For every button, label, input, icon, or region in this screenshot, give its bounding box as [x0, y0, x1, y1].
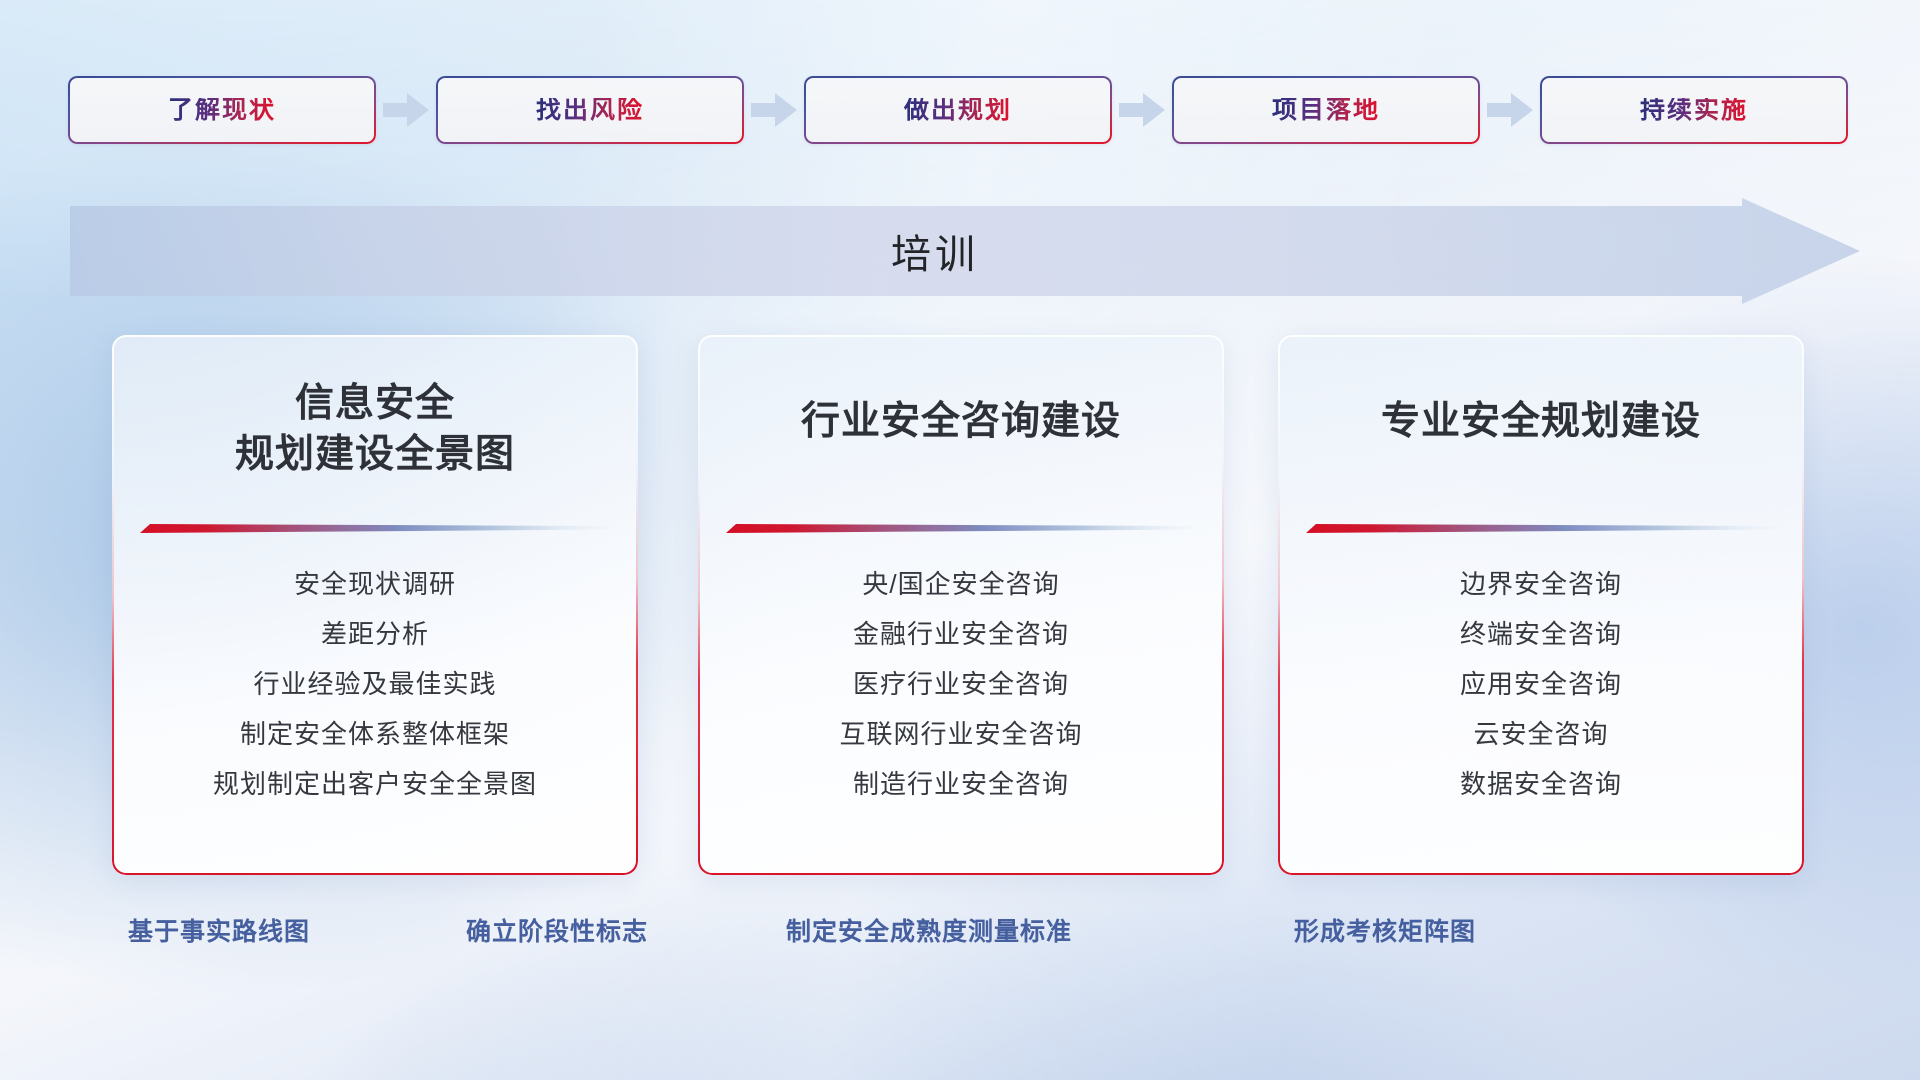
tapered-gradient-rule: [140, 521, 608, 537]
step-label-2: 做出规划: [904, 98, 1012, 123]
card-item-list: 安全现状调研 差距分析 行业经验及最佳实践 制定安全体系整体框架 规划制定出客户…: [112, 559, 638, 809]
tapered-gradient-rule: [1306, 521, 1774, 537]
process-step-row: 了解现状 找出风险 做出规划 项目落地 持续实施: [68, 76, 1858, 144]
arrow-right-icon: [1480, 91, 1540, 129]
step-box-4[interactable]: 持续实施: [1540, 76, 1848, 144]
card-list-item: 央/国企安全咨询: [698, 559, 1224, 609]
footer-label-roadmap: 基于事实路线图: [128, 912, 310, 948]
card-list-item: 差距分析: [112, 609, 638, 659]
banner-label: 培训: [70, 198, 1800, 304]
card-list-item: 制造行业安全咨询: [698, 759, 1224, 809]
step-label-3: 项目落地: [1272, 98, 1380, 123]
card-list-item: 数据安全咨询: [1278, 759, 1804, 809]
card-title-line: 信息安全: [130, 379, 620, 430]
card-list-item: 应用安全咨询: [1278, 659, 1804, 709]
slide-canvas: 了解现状 找出风险 做出规划 项目落地 持续实施: [0, 0, 1920, 1080]
card-industry-security-consulting[interactable]: 行业安全咨询建设: [698, 335, 1224, 875]
card-professional-security-planning[interactable]: 专业安全规划建设: [1278, 335, 1804, 875]
card-list-item: 云安全咨询: [1278, 709, 1804, 759]
arrow-right-icon: [376, 91, 436, 129]
step-box-2[interactable]: 做出规划: [804, 76, 1112, 144]
card-list-item: 规划制定出客户安全全景图: [112, 759, 638, 809]
card-group: 信息安全 规划建设全景图: [0, 335, 1920, 875]
footer-label-row: 基于事实路线图 确立阶段性标志 制定安全成熟度测量标准 形成考核矩阵图: [0, 912, 1920, 958]
step-label-4: 持续实施: [1640, 98, 1748, 123]
card-title: 信息安全 规划建设全景图: [112, 379, 638, 480]
card-information-security-panorama[interactable]: 信息安全 规划建设全景图: [112, 335, 638, 875]
card-title-line: 专业安全规划建设: [1296, 397, 1786, 448]
footer-label-milestone: 确立阶段性标志: [466, 912, 648, 948]
step-box-0[interactable]: 了解现状: [68, 76, 376, 144]
footer-label-matrix: 形成考核矩阵图: [1294, 912, 1476, 948]
card-list-item: 互联网行业安全咨询: [698, 709, 1224, 759]
card-title-line: 行业安全咨询建设: [716, 397, 1206, 448]
card-list-item: 行业经验及最佳实践: [112, 659, 638, 709]
card-list-item: 终端安全咨询: [1278, 609, 1804, 659]
card-list-item: 金融行业安全咨询: [698, 609, 1224, 659]
card-title: 专业安全规划建设: [1278, 397, 1804, 448]
tapered-gradient-rule: [726, 521, 1194, 537]
step-label-1: 找出风险: [536, 98, 644, 123]
arrow-right-icon: [744, 91, 804, 129]
card-list-item: 医疗行业安全咨询: [698, 659, 1224, 709]
card-list-item: 边界安全咨询: [1278, 559, 1804, 609]
card-list-item: 安全现状调研: [112, 559, 638, 609]
step-box-1[interactable]: 找出风险: [436, 76, 744, 144]
card-item-list: 边界安全咨询 终端安全咨询 应用安全咨询 云安全咨询 数据安全咨询: [1278, 559, 1804, 809]
step-label-0: 了解现状: [168, 98, 276, 123]
card-title-line: 规划建设全景图: [130, 430, 620, 481]
card-title: 行业安全咨询建设: [698, 397, 1224, 448]
arrow-right-icon: [1112, 91, 1172, 129]
footer-label-maturity: 制定安全成熟度测量标准: [786, 912, 1072, 948]
card-list-item: 制定安全体系整体框架: [112, 709, 638, 759]
card-item-list: 央/国企安全咨询 金融行业安全咨询 医疗行业安全咨询 互联网行业安全咨询 制造行…: [698, 559, 1224, 809]
training-banner: 培训: [70, 198, 1860, 304]
step-box-3[interactable]: 项目落地: [1172, 76, 1480, 144]
